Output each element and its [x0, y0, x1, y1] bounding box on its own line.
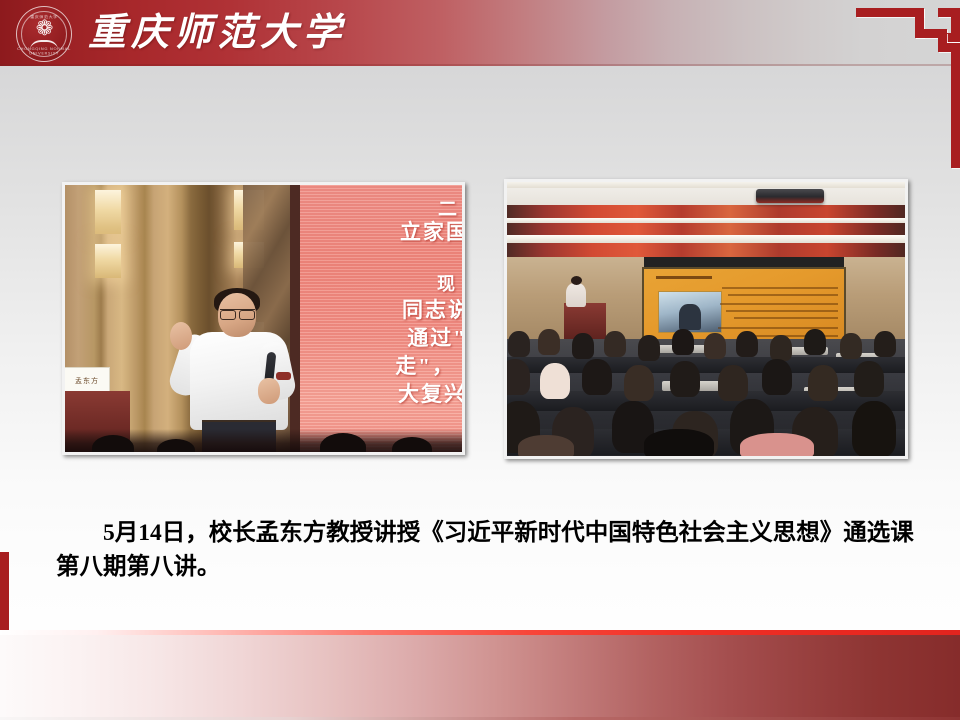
- audience-head: [508, 331, 530, 357]
- audience-head: [704, 333, 726, 359]
- presentation-slide: 重庆师范大学 ❁ CHONGQING NORMAL UNIVERSITY 重庆师…: [0, 0, 960, 720]
- audience-head: [572, 333, 594, 359]
- slide-footer-band: [0, 630, 960, 720]
- wall-led-band: [504, 243, 908, 257]
- audience-head: [540, 363, 570, 399]
- audience-head: [624, 365, 654, 401]
- slide-header-band: 重庆师范大学 ❁ CHONGQING NORMAL UNIVERSITY 重庆师…: [0, 0, 960, 66]
- audience-head: [804, 329, 826, 355]
- audience-head: [854, 361, 884, 397]
- footer-accent-stripe: [0, 630, 960, 635]
- ceiling-light-strip: [504, 179, 908, 188]
- side-wall-panel: [844, 249, 908, 339]
- audience-head: [840, 333, 862, 359]
- emblem-center-glyph: ❁: [17, 18, 71, 39]
- audience-head: [736, 331, 758, 357]
- emblem-bottom-text: CHONGQING NORMAL UNIVERSITY: [17, 47, 71, 56]
- audience-head: [538, 329, 560, 355]
- wall-led-band: [504, 223, 908, 235]
- audience-head: [582, 359, 612, 395]
- screen-inset-photo: [658, 291, 722, 333]
- speaker-right-hand: [258, 378, 280, 404]
- speaker-wristwatch: [276, 372, 291, 380]
- audience-head: [670, 361, 700, 397]
- photo-led-backdrop: 二 立家国 现 同志说 通过" 走"， 大复兴: [300, 182, 465, 455]
- audience-head: [718, 365, 748, 401]
- screen-text-line: [722, 287, 838, 289]
- audience-head: [762, 359, 792, 395]
- screen-text-line: [734, 317, 838, 319]
- photo-lecture-audience: [504, 179, 908, 459]
- led-text-line: 立家国: [400, 216, 465, 246]
- audience-head: [638, 335, 660, 361]
- screen-text-line: [718, 327, 838, 329]
- audience-head: [320, 433, 366, 455]
- audience-head: [672, 329, 694, 355]
- screen-photo-figure: [679, 304, 701, 330]
- screen-text-line: [726, 310, 838, 312]
- university-emblem-icon: 重庆师范大学 ❁ CHONGQING NORMAL UNIVERSITY: [16, 6, 72, 62]
- speaker-figure: [566, 283, 586, 307]
- photo-lecture-speaker: 二 立家国 现 同志说 通过" 走"， 大复兴 孟东方: [62, 182, 465, 455]
- audience-shoulders: [518, 435, 574, 459]
- ceiling-light: [95, 190, 121, 234]
- led-text-line: 通过": [407, 322, 465, 352]
- audience-head: [157, 439, 195, 455]
- audience-head: [392, 437, 432, 455]
- audience-head: [504, 359, 530, 395]
- screen-text-line: [728, 294, 838, 296]
- projector-icon: [756, 189, 824, 203]
- ceiling-light-strip: [504, 235, 908, 243]
- screen-heading-bar: [656, 276, 712, 279]
- audience-shoulders: [644, 429, 714, 459]
- led-text-line: 现: [437, 270, 457, 296]
- ceiling-light: [95, 244, 121, 278]
- audience-head: [852, 401, 896, 457]
- corner-ornament-top-right: [856, 8, 960, 168]
- audience-head: [604, 331, 626, 357]
- led-text-line: 走"，: [395, 350, 455, 380]
- ornament-segment: [951, 43, 960, 168]
- led-text-line: 大复兴: [398, 378, 465, 408]
- speaker-left-hand: [170, 322, 192, 350]
- audience-shoulders: [740, 433, 814, 459]
- ornament-segment: [856, 8, 924, 17]
- audience-head: [92, 435, 134, 455]
- speaker-glasses-icon: [220, 309, 255, 319]
- audience-head: [770, 335, 792, 361]
- page-title: 重庆师范大学: [88, 4, 346, 62]
- screen-text-line: [720, 303, 838, 305]
- slide-caption: 5月14日，校长孟东方教授讲授《习近平新时代中国特色社会主义思想》通选课第八期第…: [56, 516, 918, 584]
- wall-led-band: [504, 205, 908, 218]
- audience-head: [874, 331, 896, 357]
- audience-head: [808, 365, 838, 401]
- led-text-line: 同志说: [402, 294, 465, 324]
